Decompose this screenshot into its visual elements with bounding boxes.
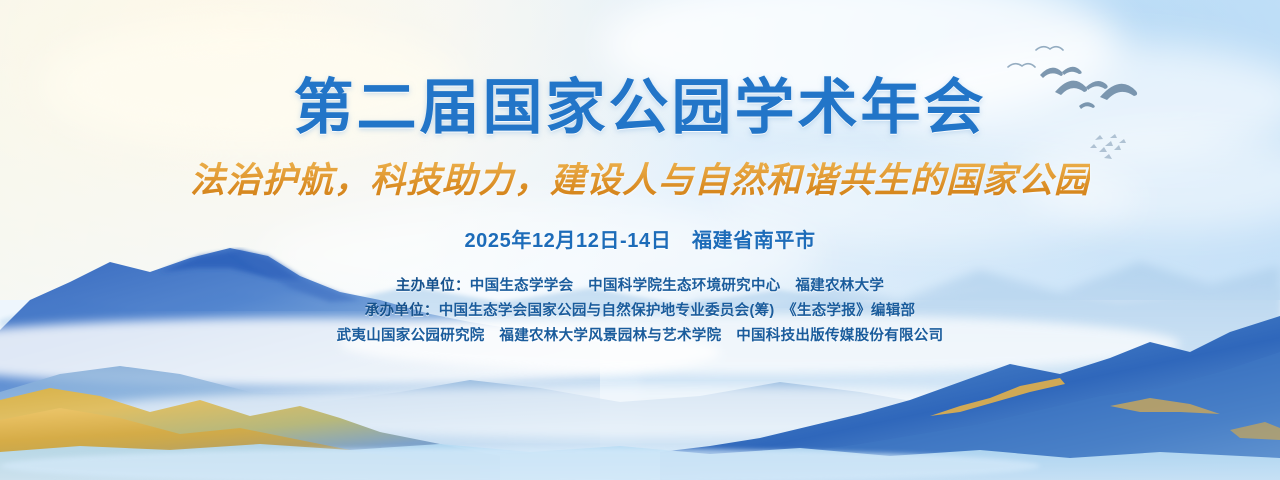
page-title: 第二届国家公园学术年会 — [294, 76, 987, 141]
organizer-label-coorganizer: 承办单位： — [365, 303, 439, 319]
organizer-value-coorganizer: 中国生态学会国家公园与自然保护地专业委员会(筹) 《生态学报》编辑部 — [439, 303, 916, 319]
organizer-line-host: 主办单位：中国生态学学会 中国科学院生态环境研究中心 福建农林大学 — [337, 274, 944, 299]
organizer-value-supporting: 武夷山国家公园研究院 福建农林大学风景园林与艺术学院 中国科技出版传媒股份有限公… — [337, 328, 944, 344]
banner-subtitle: 法治护航，科技助力，建设人与自然和谐共生的国家公园 — [190, 152, 1090, 203]
organizer-value-host: 中国生态学学会 中国科学院生态环境研究中心 福建农林大学 — [470, 278, 884, 294]
banner-content: 第二届国家公园学术年会 法治护航，科技助力，建设人与自然和谐共生的国家公园 20… — [0, 0, 1280, 480]
conference-banner: 第二届国家公园学术年会 法治护航，科技助力，建设人与自然和谐共生的国家公园 20… — [0, 0, 1280, 480]
organizer-line-supporting: 武夷山国家公园研究院 福建农林大学风景园林与艺术学院 中国科技出版传媒股份有限公… — [337, 324, 944, 349]
organizer-line-coorganizer: 承办单位：中国生态学会国家公园与自然保护地专业委员会(筹) 《生态学报》编辑部 — [337, 299, 944, 324]
organizer-list: 主办单位：中国生态学学会 中国科学院生态环境研究中心 福建农林大学 承办单位：中… — [337, 274, 944, 350]
date-location-line: 2025年12月12日-14日 福建省南平市 — [464, 224, 815, 253]
organizer-label-host: 主办单位： — [396, 278, 470, 294]
